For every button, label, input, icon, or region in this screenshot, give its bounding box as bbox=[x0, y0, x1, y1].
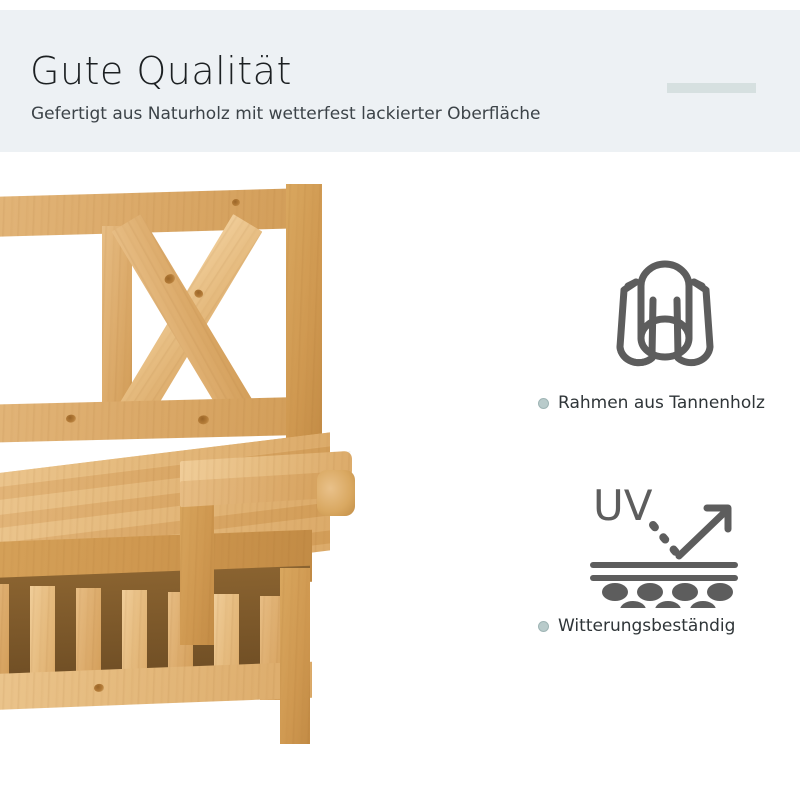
uv-resistance-icon: UV bbox=[530, 470, 800, 610]
page-title: Gute Qualität bbox=[30, 52, 292, 90]
wood-grain-texture bbox=[0, 397, 310, 446]
wooden-storage-bench-illustration bbox=[0, 170, 530, 770]
wood-knot bbox=[66, 414, 76, 422]
bullet-icon bbox=[538, 621, 549, 632]
feature-item-weather-resistance: UV bbox=[530, 470, 800, 636]
feature-item-frame-material: Rahmen aus Tannenholz bbox=[530, 247, 800, 413]
feature-label-row: Rahmen aus Tannenholz bbox=[530, 393, 800, 413]
wood-knot bbox=[193, 288, 205, 299]
backrest-top-rail bbox=[0, 188, 310, 240]
feature-label-row: Witterungsbeständig bbox=[530, 616, 800, 636]
wood-grain-texture bbox=[280, 568, 310, 744]
bullet-icon bbox=[538, 398, 549, 409]
header-band: Gute Qualität Gefertigt aus Naturholz mi… bbox=[0, 10, 800, 152]
wood-knot bbox=[232, 199, 240, 206]
bench-front-leg bbox=[280, 568, 310, 744]
uv-dots-row-bottom bbox=[620, 601, 716, 608]
wood-grain-texture bbox=[286, 184, 322, 452]
feature-list: Rahmen aus Tannenholz UV bbox=[530, 152, 800, 800]
header-accent-bar bbox=[667, 83, 756, 93]
wood-knot bbox=[94, 684, 104, 692]
feature-label-text: Rahmen aus Tannenholz bbox=[558, 393, 765, 413]
page-subtitle: Gefertigt aus Naturholz mit wetterfest l… bbox=[31, 106, 540, 123]
uv-dots-row-top bbox=[602, 583, 733, 601]
armrest-end-cap bbox=[317, 470, 355, 516]
feature-label-text: Witterungsbeständig bbox=[558, 616, 735, 636]
uv-text: UV bbox=[593, 481, 653, 530]
wood-grain-texture bbox=[0, 188, 310, 240]
timber-logs-icon bbox=[530, 247, 800, 387]
backrest-bottom-rail bbox=[0, 397, 310, 446]
wood-knot bbox=[163, 272, 177, 285]
backrest-corner-post bbox=[286, 184, 322, 452]
product-photo bbox=[0, 152, 530, 800]
wood-knot bbox=[198, 415, 209, 424]
